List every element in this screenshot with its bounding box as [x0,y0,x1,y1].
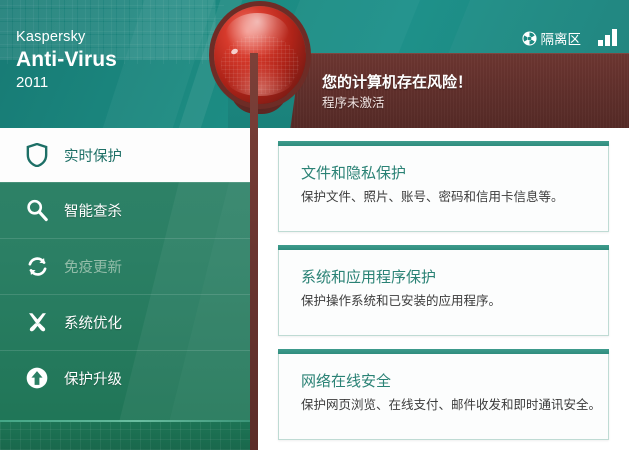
refresh-cycle-icon [22,251,52,281]
product-brand: Kaspersky Anti-Virus 2011 [16,30,117,90]
card-accent-bar [278,141,609,146]
card-description: 保护操作系统和已安装的应用程序。 [301,290,501,309]
app-header: Kaspersky Anti-Virus 2011 隔离区 [0,0,629,128]
sphere-body [214,6,306,104]
signal-bars-icon [597,28,623,46]
quarantine-link[interactable]: 隔离区 [522,28,582,48]
card-title: 网络在线安全 [301,370,391,391]
signal-bar-3 [612,29,617,46]
sidebar-item-label: 实时保护 [64,145,122,166]
card-file-privacy-protection[interactable]: 文件和隐私保护 保护文件、照片、账号、密码和信用卡信息等。 [278,142,609,232]
card-accent-bar [278,349,609,354]
card-description: 保护网页浏览、在线支付、邮件收发和即时通讯安全。 [301,394,601,413]
sidebar-item-label: 智能查杀 [64,200,122,221]
sidebar-item-system-optimization[interactable]: 系统优化 [0,295,250,349]
sidebar-item-protection-upgrade[interactable]: 保护升级 [0,351,250,405]
main-content: 文件和隐私保护 保护文件、照片、账号、密码和信用卡信息等。 系统和应用程序保护 … [258,128,629,450]
kaspersky-main-window: Kaspersky Anti-Virus 2011 隔离区 [0,0,629,450]
shield-icon [22,140,52,170]
card-title: 文件和隐私保护 [301,162,406,183]
sidebar-content-divider [250,53,258,450]
sidebar-item-smart-scan[interactable]: 智能查杀 [0,183,250,237]
brand-version: 2011 [16,75,117,90]
signal-bar-2 [605,35,610,46]
card-system-application-protection[interactable]: 系统和应用程序保护 保护操作系统和已安装的应用程序。 [278,246,609,336]
card-accent-bar [278,245,609,250]
radiation-quarantine-icon [522,31,537,46]
sidebar-item-label: 免疫更新 [64,256,122,277]
status-title: 您的计算机存在风险！ [322,71,472,92]
quarantine-label: 隔离区 [541,28,582,48]
card-description: 保护文件、照片、账号、密码和信用卡信息等。 [301,186,564,205]
sidebar-nav: 实时保护 智能查杀 免疫更新 [0,128,250,450]
sidebar-item-immune-update[interactable]: 免疫更新 [0,239,250,293]
sidebar-item-realtime-protection[interactable]: 实时保护 [0,128,250,182]
signal-bar-1 [598,40,603,46]
sidebar-item-label: 保护升级 [64,368,122,389]
card-network-online-security[interactable]: 网络在线安全 保护网页浏览、在线支付、邮件收发和即时通讯安全。 [278,350,609,440]
sidebar-item-label: 系统优化 [64,312,122,333]
circle-up-arrow-icon [22,363,52,393]
tools-cross-icon [22,307,52,337]
brand-vendor: Kaspersky [16,30,117,45]
card-title: 系统和应用程序保护 [301,266,436,287]
magnifier-icon [22,195,52,225]
red-alert-sphere-icon[interactable] [214,6,306,116]
status-subtitle: 程序未激活 [322,92,385,111]
brand-product: Anti-Virus [16,49,117,70]
sidebar-bottom-pattern [0,422,250,450]
sphere-lower-highlight [227,63,293,96]
